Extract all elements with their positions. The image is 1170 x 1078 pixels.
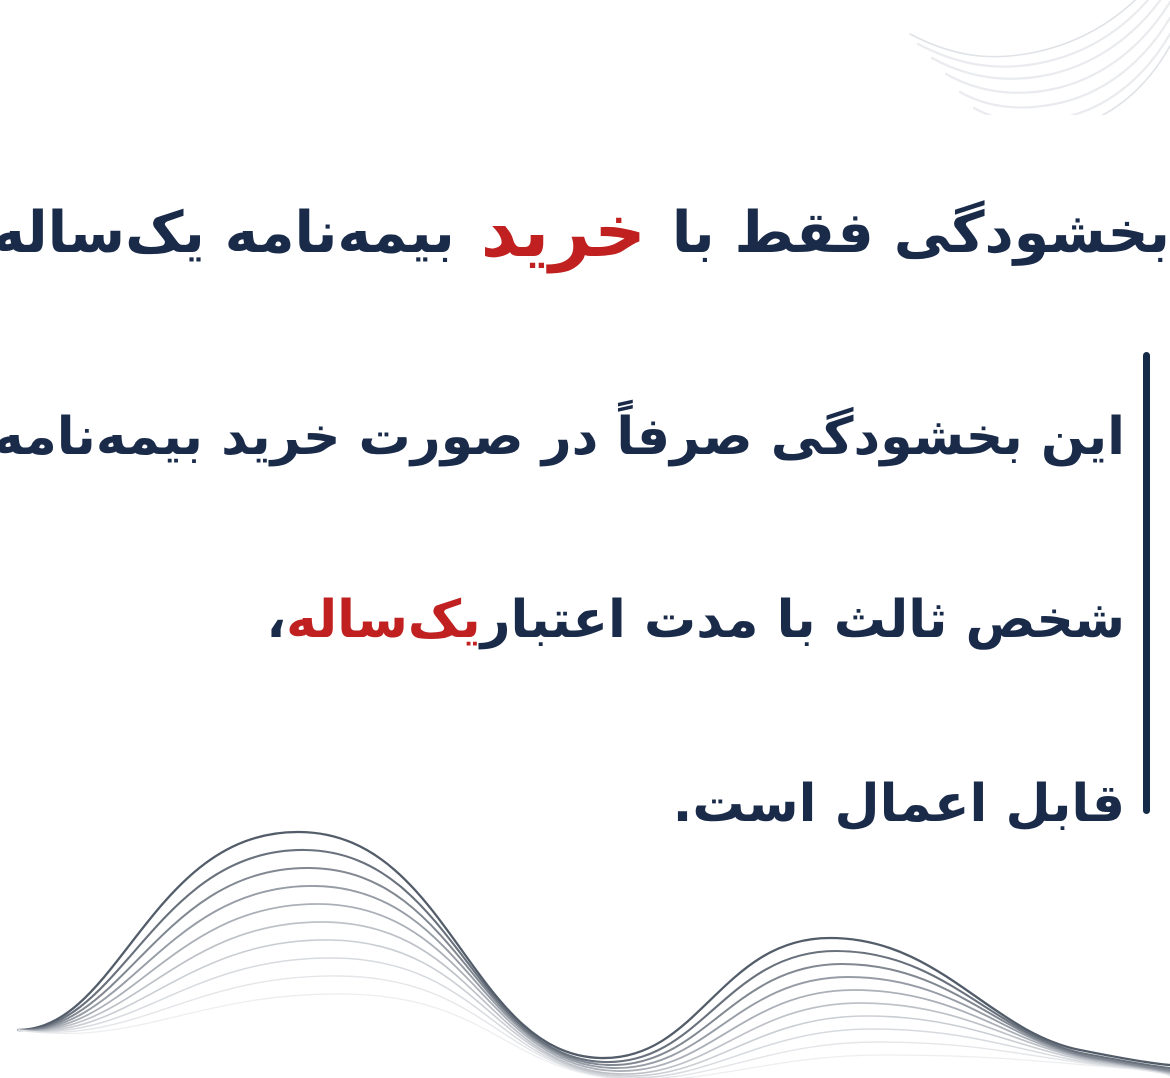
body-line-2-after: ، bbox=[266, 590, 286, 650]
poster-canvas: بخشودگی فقط با خرید بیمه‌نامه یک‌ساله ای… bbox=[0, 0, 1170, 1078]
body-block: این بخشودگی صرفاً در صورت خرید بیمه‌نامه… bbox=[20, 352, 1150, 814]
headline-accent-kharid: خرید bbox=[475, 189, 652, 273]
vertical-accent-rule bbox=[1143, 352, 1150, 814]
headline: بخشودگی فقط با خرید بیمه‌نامه یک‌ساله bbox=[0, 186, 1170, 276]
headline-part-1: بخشودگی فقط با bbox=[672, 200, 1170, 266]
body-line-2: شخص ثالث با مدت اعتباریک‌ساله، bbox=[0, 581, 1125, 660]
body-line-1: این بخشودگی صرفاً در صورت خرید بیمه‌نامه bbox=[0, 398, 1125, 477]
body-line-2-before: شخص ثالث با مدت اعتبار bbox=[481, 590, 1125, 650]
wave-lines-top-right-icon bbox=[840, 0, 1170, 115]
headline-part-2: بیمه‌نامه یک‌ساله bbox=[0, 200, 455, 266]
body-text: این بخشودگی صرفاً در صورت خرید بیمه‌نامه… bbox=[0, 352, 1125, 814]
body-line-2-accent-yeksale: یک‌ساله bbox=[286, 590, 481, 650]
wave-lines-bottom-icon bbox=[0, 818, 1170, 1078]
body-line-3: قابل اعمال است. bbox=[0, 765, 1125, 844]
body-line-3-text: قابل اعمال است. bbox=[673, 765, 1125, 844]
